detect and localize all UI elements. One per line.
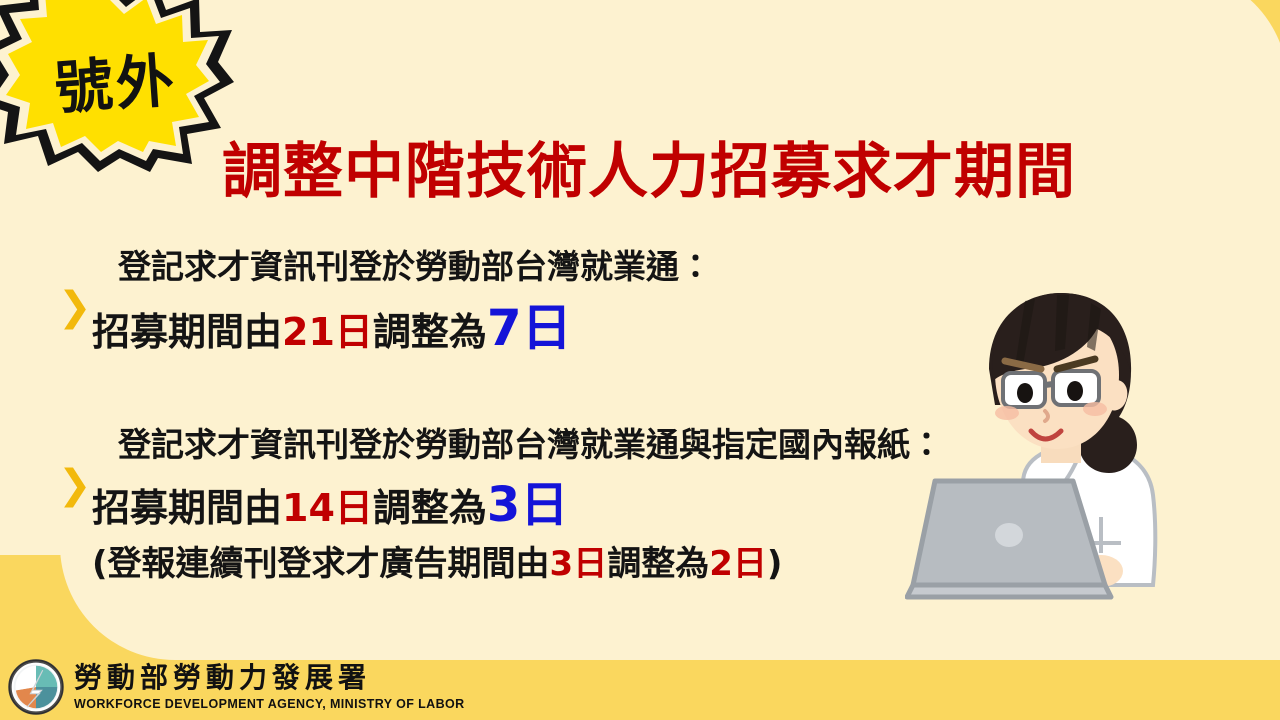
breaking-news-badge: 號外 xyxy=(0,0,236,172)
poster-canvas: 號外 調整中階技術人力招募求才期間 ❯ 登記求才資訊刊登於勞動部台灣就業通： 招… xyxy=(0,0,1280,720)
block-2-middle: 調整為 xyxy=(373,486,487,530)
chevron-right-icon: ❯ xyxy=(58,287,92,327)
block-1-main: 招募期間由21日調整為7日 xyxy=(92,291,1018,366)
note-from: 3日 xyxy=(550,544,608,584)
block-2-heading: 登記求才資訊刊登於勞動部台灣就業通與指定國內報紙： xyxy=(92,421,1018,469)
note-close: ) xyxy=(767,544,783,584)
woman-with-laptop-illustration xyxy=(905,285,1225,630)
block-1-to: 7日 xyxy=(487,299,572,357)
note-middle: 調整為 xyxy=(607,544,709,584)
block-2-from: 14日 xyxy=(282,486,373,530)
chevron-right-icon: ❯ xyxy=(58,465,92,505)
note-open: (登報連續刊登求才廣告期間由 xyxy=(92,544,550,584)
block-1-from: 21日 xyxy=(282,310,373,354)
block-2-main: 招募期間由14日調整為3日 xyxy=(92,469,1018,541)
note-to: 2日 xyxy=(709,544,767,584)
block-1-middle: 調整為 xyxy=(373,310,487,354)
organization-name: 勞動部勞動力發展署 WORKFORCE DEVELOPMENT AGENCY, … xyxy=(74,663,465,711)
laptop xyxy=(907,481,1111,597)
block-1-prefix: 招募期間由 xyxy=(92,310,282,354)
block-2-prefix: 招募期間由 xyxy=(92,486,282,530)
bullet-block-2: ❯ 登記求才資訊刊登於勞動部台灣就業通與指定國內報紙： 招募期間由14日調整為3… xyxy=(58,421,1018,588)
org-name-zh: 勞動部勞動力發展署 xyxy=(74,663,465,694)
footer-bar: 勞動部勞動力發展署 WORKFORCE DEVELOPMENT AGENCY, … xyxy=(0,654,1280,720)
content-blocks: ❯ 登記求才資訊刊登於勞動部台灣就業通： 招募期間由21日調整為7日 ❯ 登記求… xyxy=(58,243,1018,588)
block-2-note: (登報連續刊登求才廣告期間由3日調整為2日) xyxy=(92,541,1018,589)
org-name-en: WORKFORCE DEVELOPMENT AGENCY, MINISTRY O… xyxy=(74,697,465,711)
bullet-block-1: ❯ 登記求才資訊刊登於勞動部台灣就業通： 招募期間由21日調整為7日 xyxy=(58,243,1018,366)
block-2-to: 3日 xyxy=(487,477,568,533)
workforce-development-agency-logo xyxy=(8,659,64,715)
block-1-heading: 登記求才資訊刊登於勞動部台灣就業通： xyxy=(92,243,1018,291)
page-title: 調整中階技術人力招募求才期間 xyxy=(222,141,1076,204)
